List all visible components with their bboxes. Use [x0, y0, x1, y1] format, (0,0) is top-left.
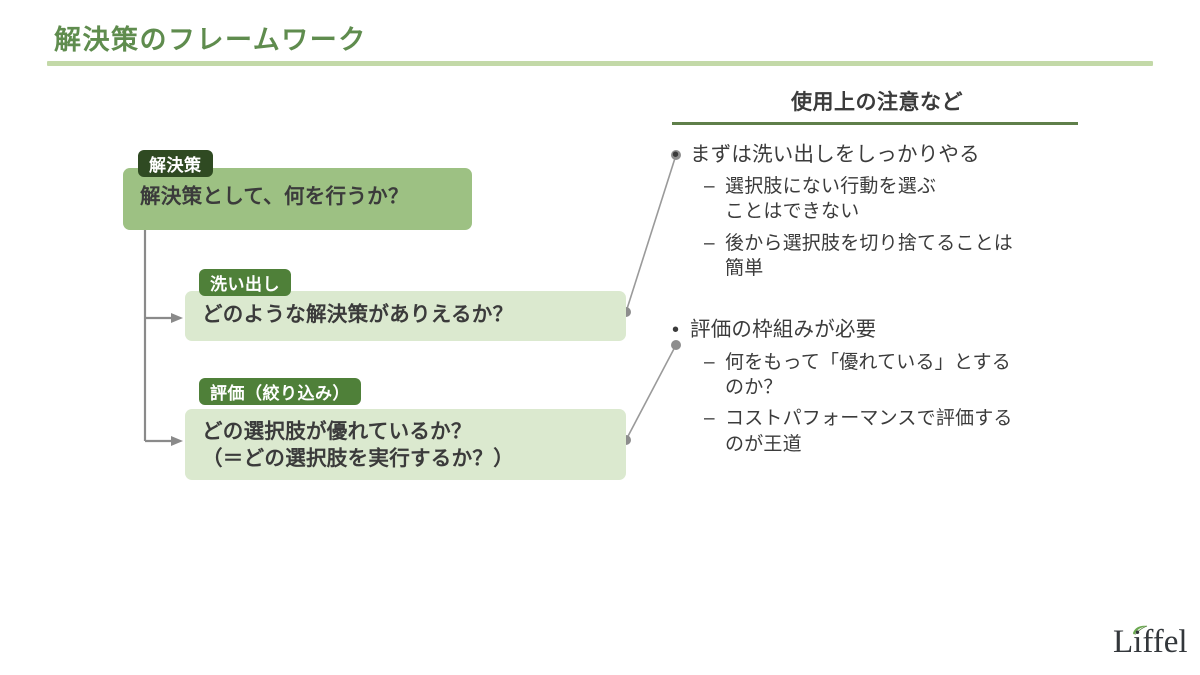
flow-box-listing[interactable]: どのような解決策がありえるか？	[185, 291, 626, 341]
logo-wordmark: Liffel	[1113, 626, 1188, 659]
note-group: • 評価の枠組みが必要 – 何をもって「優れている」とする のか？ – コストパ…	[672, 317, 1082, 457]
dash-icon: –	[704, 406, 725, 431]
note-sub-text: 何をもって「優れている」とする のか？	[725, 350, 1011, 401]
note-sub-bullet: – 選択肢にない行動を選ぶ ことはできない	[704, 174, 1082, 225]
note-sub-text: コストパフォーマンスで評価する のが王道	[725, 406, 1013, 457]
bullet-icon: •	[672, 142, 690, 168]
note-main-bullet: • 評価の枠組みが必要	[672, 317, 1082, 344]
note-sub-bullet: – 後から選択肢を切り捨てることは 簡単	[704, 231, 1082, 282]
flow-tag-listing: 洗い出し	[199, 269, 291, 296]
note-sub-bullet: – 何をもって「優れている」とする のか？	[704, 350, 1082, 401]
notes-panel: 使用上の注意など • まずは洗い出しをしっかりやる – 選択肢にない行動を選ぶ …	[672, 86, 1082, 481]
notes-underline	[672, 122, 1078, 125]
slide-canvas: 解決策のフレームワーク 解決策として、何を行うか？ 解決策 どのような解決策があ…	[0, 0, 1200, 675]
dash-icon: –	[704, 231, 725, 256]
flow-box-solution[interactable]: 解決策として、何を行うか？	[123, 168, 472, 230]
note-main-text: 評価の枠組みが必要	[690, 317, 876, 344]
flow-box-solution-text: 解決策として、何を行うか？	[140, 183, 409, 210]
brand-logo: Liffel	[1113, 626, 1183, 666]
notes-heading: 使用上の注意など	[672, 86, 1082, 122]
note-main-bullet: • まずは洗い出しをしっかりやる	[672, 142, 1082, 169]
note-sub-bullet: – コストパフォーマンスで評価する のが王道	[704, 406, 1082, 457]
note-main-text: まずは洗い出しをしっかりやる	[690, 142, 980, 169]
note-sub-text: 選択肢にない行動を選ぶ ことはできない	[725, 174, 936, 225]
flow-box-listing-text: どのような解決策がありえるか？	[202, 301, 513, 328]
dash-icon: –	[704, 174, 725, 199]
flow-box-evaluation-text: どの選択肢が優れているか？ （＝どの選択肢を実行するか？）	[202, 418, 514, 473]
note-sub-text: 後から選択肢を切り捨てることは 簡単	[725, 231, 1013, 282]
flow-tag-solution: 解決策	[138, 150, 213, 177]
dash-icon: –	[704, 350, 725, 375]
note-group: • まずは洗い出しをしっかりやる – 選択肢にない行動を選ぶ ことはできない –…	[672, 142, 1082, 282]
bullet-icon: •	[672, 317, 690, 343]
flow-tag-evaluation: 評価（絞り込み）	[199, 378, 361, 405]
flow-diagram: 解決策として、何を行うか？ 解決策 どのような解決策がありえるか？ 洗い出し ど…	[0, 0, 680, 560]
flow-box-evaluation[interactable]: どの選択肢が優れているか？ （＝どの選択肢を実行するか？）	[185, 409, 626, 480]
